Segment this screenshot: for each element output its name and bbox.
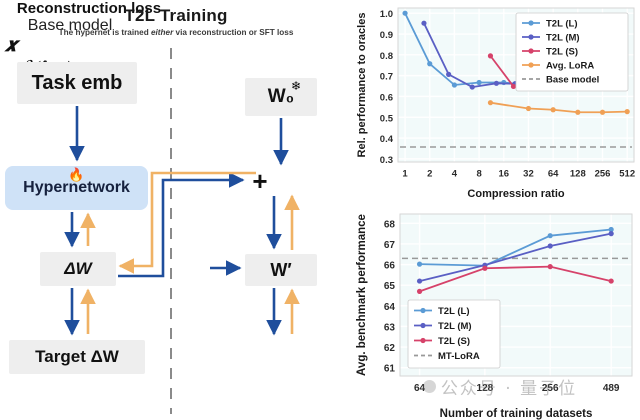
node-w-prime: W′ <box>245 254 317 286</box>
svg-text:16: 16 <box>498 169 509 180</box>
svg-text:Base model: Base model <box>546 75 599 86</box>
chart-svg-compression: 0.30.40.50.60.70.80.91.01248163264128256… <box>352 0 640 200</box>
svg-text:65: 65 <box>384 281 396 292</box>
svg-text:Number of training datasets: Number of training datasets <box>440 408 593 420</box>
snowflake-icon: ❄ <box>291 80 301 92</box>
svg-text:67: 67 <box>384 240 396 251</box>
svg-text:Avg. benchmark performance: Avg. benchmark performance <box>356 214 368 376</box>
svg-text:489: 489 <box>603 383 620 394</box>
svg-text:68: 68 <box>384 219 396 230</box>
svg-text:128: 128 <box>570 169 586 180</box>
svg-text:64: 64 <box>548 169 559 180</box>
svg-text:Avg. LoRA: Avg. LoRA <box>546 61 594 72</box>
svg-text:MT-LoRA: MT-LoRA <box>438 351 480 362</box>
node-delta-w: ΔW <box>40 252 116 286</box>
node-target-delta-w: Target ΔW <box>9 340 145 374</box>
svg-text:Compression ratio: Compression ratio <box>467 188 564 200</box>
svg-text:T2L (M): T2L (M) <box>438 321 472 332</box>
svg-text:T2L (S): T2L (S) <box>438 336 470 347</box>
svg-text:0.3: 0.3 <box>380 155 393 166</box>
fire-icon: 🔥 <box>68 168 84 181</box>
svg-text:32: 32 <box>523 169 534 180</box>
svg-text:0.4: 0.4 <box>380 134 394 145</box>
svg-text:64: 64 <box>414 383 426 394</box>
svg-text:0.6: 0.6 <box>380 92 393 103</box>
node-w0: W₀ <box>245 78 317 116</box>
svg-text:66: 66 <box>384 261 396 272</box>
svg-text:T2L (L): T2L (L) <box>438 306 470 317</box>
t2l-training-diagram: T2L Training The hypernet is trained eit… <box>0 0 352 420</box>
svg-text:0.9: 0.9 <box>380 30 393 41</box>
svg-text:8: 8 <box>476 169 481 180</box>
svg-text:2: 2 <box>427 169 432 180</box>
svg-text:Rel. performance to oracles: Rel. performance to oracles <box>356 13 368 158</box>
svg-text:256: 256 <box>542 383 559 394</box>
svg-text:128: 128 <box>477 383 494 394</box>
svg-text:0.8: 0.8 <box>380 51 393 62</box>
svg-text:64: 64 <box>384 302 396 313</box>
svg-text:62: 62 <box>384 343 396 354</box>
svg-text:0.7: 0.7 <box>380 72 393 83</box>
svg-text:61: 61 <box>384 364 396 375</box>
svg-text:T2L (M): T2L (M) <box>546 33 580 44</box>
svg-text:256: 256 <box>595 169 611 180</box>
svg-text:T2L (S): T2L (S) <box>546 47 578 58</box>
chart-compression-ratio: 0.30.40.50.60.70.80.91.01248163264128256… <box>352 0 640 200</box>
svg-text:1.0: 1.0 <box>380 9 393 20</box>
svg-text:63: 63 <box>384 322 396 333</box>
node-plus-operator: + <box>247 168 273 194</box>
svg-text:512: 512 <box>619 169 635 180</box>
node-task-emb: Task emb <box>17 62 137 104</box>
chart-svg-num-datasets: 616263646566676864128256489Number of tra… <box>352 200 640 420</box>
chart-num-training-datasets: 616263646566676864128256489Number of tra… <box>352 200 640 420</box>
screenshot-root: T2L Training The hypernet is trained eit… <box>0 0 640 420</box>
svg-text:0.5: 0.5 <box>380 113 394 124</box>
svg-text:1: 1 <box>402 169 408 180</box>
svg-text:4: 4 <box>452 169 458 180</box>
svg-text:T2L (L): T2L (L) <box>546 19 578 30</box>
